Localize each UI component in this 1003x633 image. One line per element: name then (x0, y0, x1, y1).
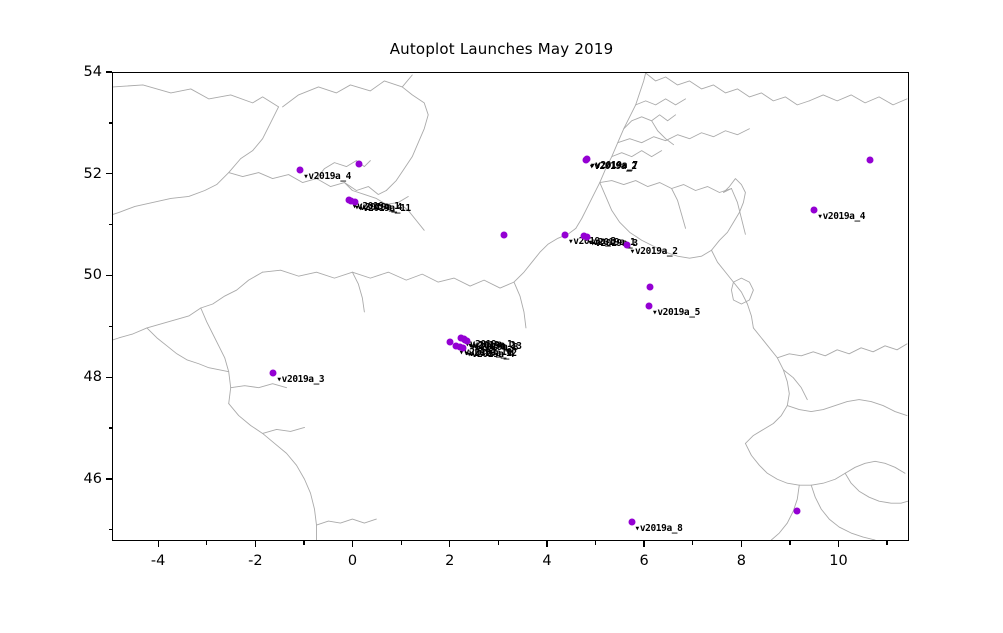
x-tick-minor (789, 541, 790, 545)
x-tick-label: -2 (248, 553, 262, 569)
data-point-label: ▾v2019a_4 (817, 211, 865, 222)
map-plot-area[interactable]: ▾v2019a_4▾v2019a_1▾v2019a_4▾v2019a_11▾v2… (112, 72, 909, 541)
y-tick-major (106, 71, 112, 72)
x-tick-major (741, 541, 742, 547)
y-tick-major (106, 173, 112, 174)
data-point-marker[interactable] (356, 160, 363, 167)
y-tick-minor (109, 427, 113, 428)
x-tick-minor (303, 541, 304, 545)
x-tick-label: 2 (445, 553, 454, 569)
x-tick-major (449, 541, 450, 547)
y-tick-minor (109, 122, 113, 123)
x-tick-major (838, 541, 839, 547)
data-point-label: ▾v2019a_3 (276, 374, 324, 385)
x-tick-major (546, 541, 547, 547)
x-tick-minor (401, 541, 402, 545)
data-point-label: ▾v2019a_5 (652, 307, 700, 318)
x-tick-major (255, 541, 256, 547)
data-point-label: ▾v2019a_2 (630, 246, 678, 257)
x-tick-minor (595, 541, 596, 545)
x-tick-label: 4 (542, 553, 551, 569)
coastlines-and-borders (113, 73, 908, 540)
y-tick-major (106, 478, 112, 479)
data-point-label: ▾v2019a_2 (589, 161, 637, 172)
data-point-label: ▾v2019a_8 (635, 523, 683, 534)
y-tick-major (106, 377, 112, 378)
figure-canvas: Autoplot Launches May 2019 (0, 0, 1003, 633)
x-tick-major (643, 541, 644, 547)
x-tick-minor (886, 541, 887, 545)
x-tick-label: -4 (151, 553, 165, 569)
chart-title: Autoplot Launches May 2019 (0, 40, 1003, 58)
x-tick-label: 10 (829, 553, 847, 569)
y-tick-label: 50 (72, 267, 102, 283)
data-point-label: ▾v2019a_4 (303, 171, 351, 182)
data-point-label: ▾v2019a_11 (358, 203, 411, 214)
x-tick-label: 8 (737, 553, 746, 569)
y-tick-label: 46 (72, 471, 102, 487)
x-tick-major (352, 541, 353, 547)
data-point-marker[interactable] (793, 508, 800, 515)
x-tick-minor (206, 541, 207, 545)
data-point-label: ▾v2019a_4 (466, 349, 514, 360)
y-tick-label: 52 (72, 166, 102, 182)
x-tick-minor (692, 541, 693, 545)
x-tick-label: 6 (640, 553, 649, 569)
x-tick-major (158, 541, 159, 547)
x-tick-minor (498, 541, 499, 545)
x-tick-label: 0 (348, 553, 357, 569)
y-tick-minor (109, 224, 113, 225)
y-tick-label: 48 (72, 369, 102, 385)
y-tick-major (106, 275, 112, 276)
data-point-marker[interactable] (647, 283, 654, 290)
data-point-marker[interactable] (866, 157, 873, 164)
y-tick-label: 54 (72, 64, 102, 80)
data-point-marker[interactable] (501, 231, 508, 238)
y-tick-minor (109, 529, 113, 530)
y-tick-minor (109, 326, 113, 327)
